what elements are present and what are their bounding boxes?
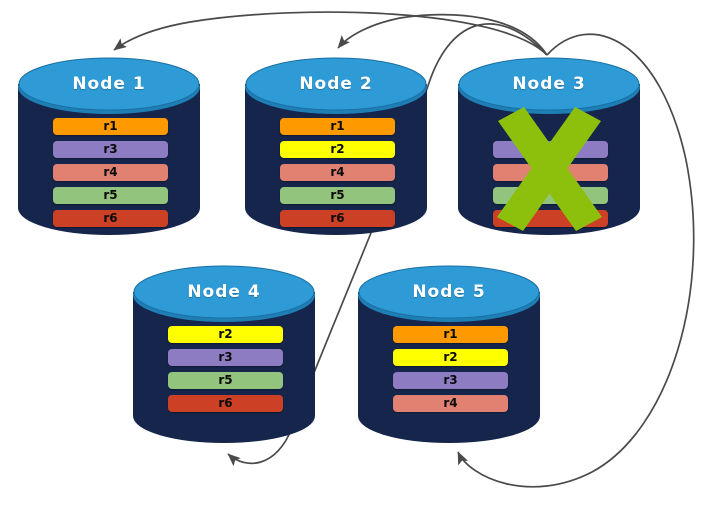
node-2-replica-r5[interactable]: r5 (280, 187, 395, 204)
node-1-replica-label: r6 (53, 210, 168, 227)
node-5-replica-label: r1 (393, 326, 508, 343)
node-4-replica-label: r5 (168, 372, 283, 389)
arrow-node3-to-node2 (338, 15, 547, 55)
node-4-replica-r5[interactable]: r5 (168, 372, 283, 389)
node-1-replica-label: r4 (53, 164, 168, 181)
node-4-title: Node 4 (133, 282, 315, 302)
node-1-replica-label: r5 (53, 187, 168, 204)
node-2-replica-label: r6 (280, 210, 395, 227)
node-2-replica-label: r5 (280, 187, 395, 204)
node-2[interactable]: Node 2r1r2r4r5r6 (245, 57, 427, 235)
node-3-replica-label: r3 (493, 141, 608, 158)
node-5-replica-label: r2 (393, 349, 508, 366)
node-4-replica-r6[interactable]: r6 (168, 395, 283, 412)
node-3-replica-slot-2[interactable] (493, 164, 608, 181)
node-5-title: Node 5 (358, 282, 540, 302)
node-1-replica-r5[interactable]: r5 (53, 187, 168, 204)
node-2-replica-label: r4 (280, 164, 395, 181)
node-4-replica-label: r3 (168, 349, 283, 366)
node-5-replica-label: r4 (393, 395, 508, 412)
node-3-replica-slot-3[interactable] (493, 187, 608, 204)
node-1[interactable]: Node 1r1r3r4r5r6 (18, 57, 200, 235)
node-5-replica-r1[interactable]: r1 (393, 326, 508, 343)
node-1-replica-r1[interactable]: r1 (53, 118, 168, 135)
node-2-replica-r1[interactable]: r1 (280, 118, 395, 135)
node-1-replica-r3[interactable]: r3 (53, 141, 168, 158)
node-5[interactable]: Node 5r1r2r3r4 (358, 265, 540, 443)
node-5-replica-r4[interactable]: r4 (393, 395, 508, 412)
node-2-title: Node 2 (245, 74, 427, 94)
node-5-replica-r3[interactable]: r3 (393, 372, 508, 389)
node-4-replica-r3[interactable]: r3 (168, 349, 283, 366)
node-2-replica-r6[interactable]: r6 (280, 210, 395, 227)
node-3-replica-r3[interactable]: r3 (493, 141, 608, 158)
node-4-replica-label: r2 (168, 326, 283, 343)
diagram-canvas: Node 1r1r3r4r5r6Node 2r1r2r4r5r6Node 3r3… (0, 0, 708, 508)
node-2-replica-r2[interactable]: r2 (280, 141, 395, 158)
node-1-replica-r6[interactable]: r6 (53, 210, 168, 227)
node-1-replica-r4[interactable]: r4 (53, 164, 168, 181)
node-5-replica-label: r3 (393, 372, 508, 389)
node-5-replica-r2[interactable]: r2 (393, 349, 508, 366)
node-4-replica-label: r6 (168, 395, 283, 412)
node-2-replica-r4[interactable]: r4 (280, 164, 395, 181)
node-1-replica-label: r1 (53, 118, 168, 135)
node-1-title: Node 1 (18, 74, 200, 94)
node-2-replica-label: r1 (280, 118, 395, 135)
node-4-replica-r2[interactable]: r2 (168, 326, 283, 343)
node-3-replica-slot-4[interactable] (493, 210, 608, 227)
node-2-replica-label: r2 (280, 141, 395, 158)
node-1-replica-label: r3 (53, 141, 168, 158)
node-3-title: Node 3 (458, 74, 640, 94)
node-4[interactable]: Node 4r2r3r5r6 (133, 265, 315, 443)
node-3[interactable]: Node 3r3 (458, 57, 640, 235)
